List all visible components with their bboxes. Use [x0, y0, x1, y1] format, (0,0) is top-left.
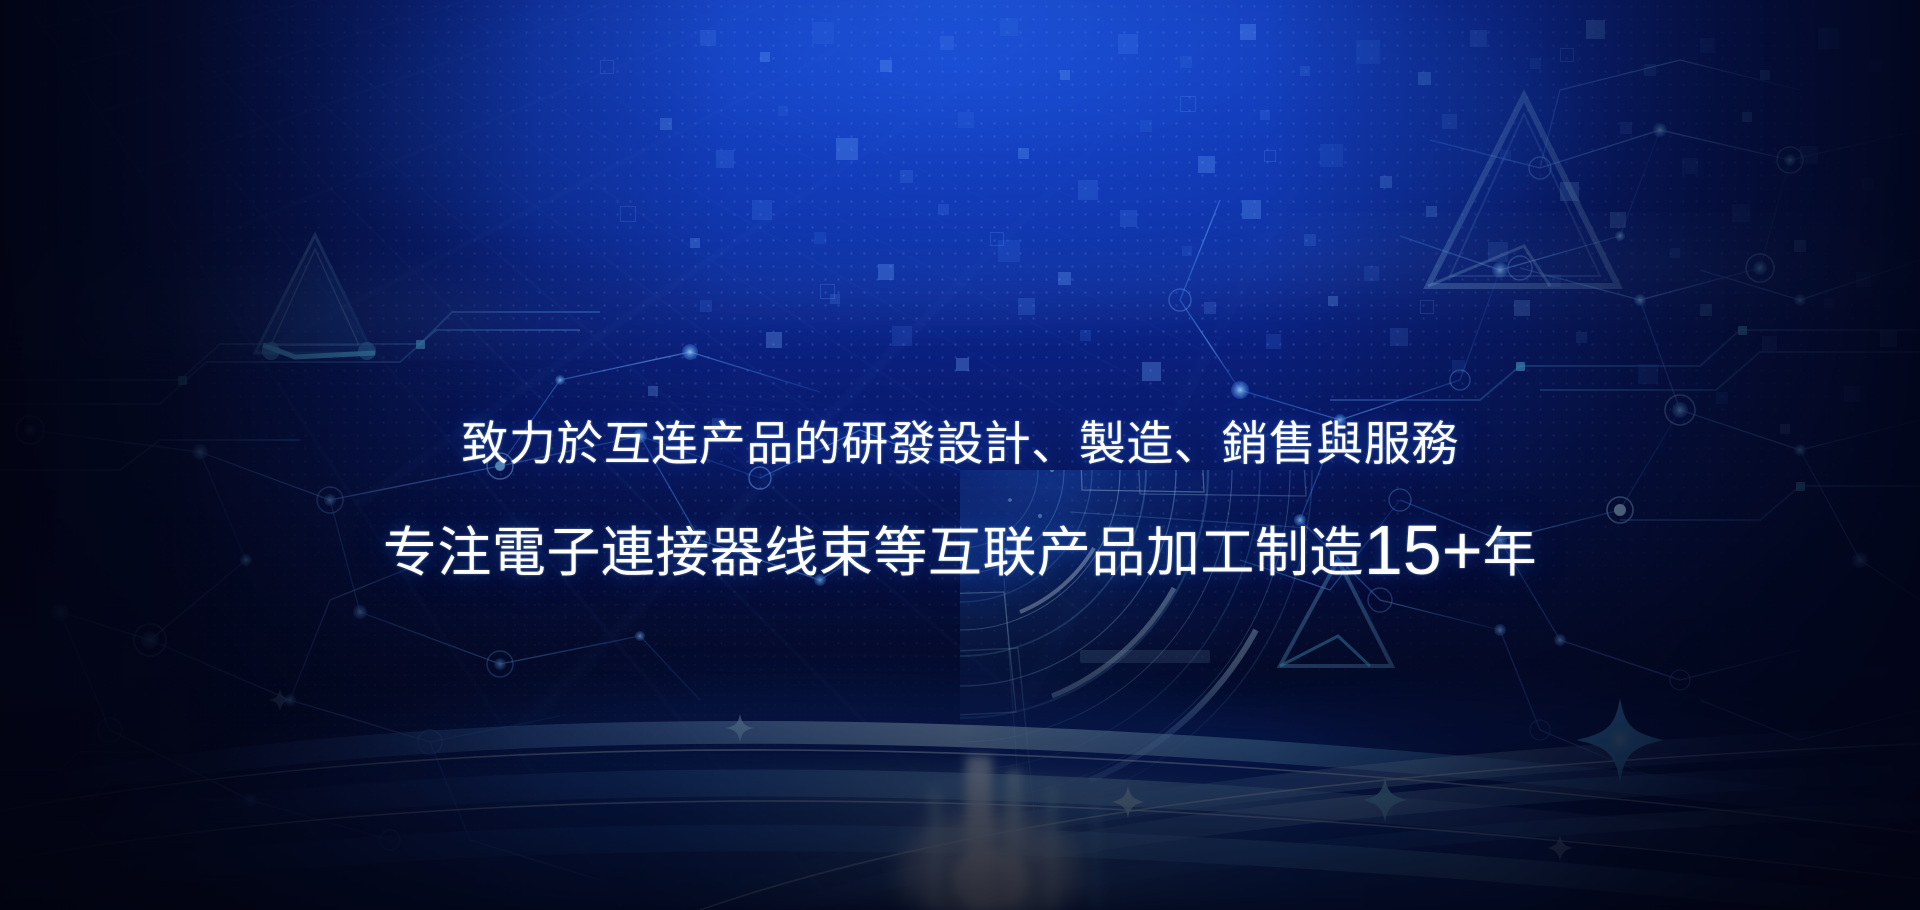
pixel-square: [620, 206, 636, 222]
pixel-square: [1732, 204, 1750, 222]
pixel-square: [1180, 96, 1196, 112]
pixel-square: [1320, 144, 1343, 167]
pixel-square: [830, 294, 840, 304]
pixel-square: [1364, 266, 1379, 281]
pixel-square: [1060, 70, 1070, 80]
pixel-square: [760, 52, 770, 62]
pixel-square: [1700, 304, 1712, 316]
pixel-square: [1198, 156, 1215, 173]
pixel-square: [1576, 332, 1587, 343]
pixel-square: [778, 106, 788, 116]
pixel-square: [1862, 178, 1874, 190]
pixel-square: [1844, 386, 1860, 402]
pixel-square: [1304, 234, 1316, 246]
pixel-square: [1716, 392, 1728, 404]
pixel-square: [1452, 360, 1465, 373]
pixel-square: [1586, 20, 1605, 39]
pixel-square: [938, 204, 949, 215]
pixel-square: [956, 358, 969, 371]
pixel-square: [1264, 150, 1276, 162]
perspective-grid-bottom-left: [0, 299, 870, 415]
pixel-square: [1204, 302, 1216, 314]
pixel-square: [1380, 176, 1392, 188]
pixel-square: [648, 386, 658, 396]
pixel-square: [1442, 114, 1457, 129]
pixel-square: [1078, 180, 1098, 200]
pixel-square: [752, 200, 772, 220]
pixel-square: [1420, 300, 1434, 314]
pixel-square: [1742, 112, 1752, 122]
pixel-square: [812, 22, 834, 44]
headline-line-1: 致力於互连产品的研發設計、製造、銷售與服務: [0, 420, 1920, 469]
pixel-square: [1180, 56, 1192, 68]
pixel-square: [1356, 40, 1380, 64]
pixel-square: [1760, 70, 1770, 80]
pixel-square: [1080, 330, 1091, 341]
pixel-square: [716, 150, 734, 168]
pixel-square: [1118, 34, 1138, 54]
pixel-square: [1514, 300, 1530, 316]
pixel-square: [1818, 28, 1839, 49]
pixel-square: [958, 112, 974, 128]
pixel-square: [900, 170, 913, 183]
headline-line-2: 专注電子連接器线束等互联产品加工制造15+年: [0, 512, 1920, 582]
pixel-square: [1856, 272, 1871, 287]
pixel-square: [1824, 298, 1834, 308]
pixel-square: [1548, 274, 1561, 287]
pixel-square: [940, 36, 954, 50]
pixel-square: [1700, 38, 1715, 53]
pixel-square: [1240, 24, 1256, 40]
pixel-square: [990, 232, 1004, 246]
pixel-square: [820, 284, 835, 299]
pixel-square: [1426, 206, 1437, 217]
pixel-square: [1140, 120, 1152, 132]
pixel-square: [1682, 158, 1698, 174]
pixel-square: [660, 118, 672, 130]
pixel-square: [1488, 242, 1508, 262]
pixel-square: [1266, 334, 1281, 349]
pixel-square: [814, 232, 826, 244]
pixel-square: [1762, 336, 1777, 351]
headline-years-number: 15+: [1364, 515, 1483, 585]
pixel-square: [880, 60, 892, 72]
pixel-square: [600, 60, 614, 74]
pixel-square: [1670, 248, 1680, 258]
pixel-square: [1620, 122, 1632, 134]
pixel-square: [1644, 64, 1656, 76]
pixel-square: [1242, 200, 1261, 219]
pixel-square: [1328, 296, 1338, 306]
pixel-square: [1470, 30, 1487, 47]
pixel-square: [1260, 110, 1270, 120]
pixel-square: [1000, 18, 1018, 36]
pixel-square: [878, 264, 894, 280]
pixel-square: [836, 138, 858, 160]
pixel-square: [1018, 148, 1029, 159]
pixel-square: [892, 326, 912, 346]
pixel-square: [1794, 240, 1806, 252]
pixel-square: [1500, 150, 1511, 161]
pixel-square: [766, 332, 782, 348]
pixel-square: [1182, 246, 1192, 256]
pixel-square: [998, 240, 1020, 262]
pixel-square: [700, 30, 716, 46]
pixel-square: [1800, 146, 1818, 164]
headline-block: 致力於互连产品的研發設計、製造、銷售與服務 专注電子連接器线束等互联产品加工制造…: [0, 420, 1920, 582]
pixel-square: [1530, 58, 1541, 69]
pixel-square: [1300, 66, 1310, 76]
pixel-square: [1870, 60, 1882, 72]
pixel-square: [1058, 272, 1071, 285]
headline-line-2-suffix: 年: [1483, 525, 1538, 581]
pixel-square: [1120, 210, 1137, 227]
pixel-square: [700, 300, 712, 312]
pixel-square: [1390, 328, 1408, 346]
pixel-square: [1610, 212, 1626, 228]
pixel-square: [1638, 364, 1658, 384]
headline-line-2-prefix: 专注電子連接器线束等互联产品加工制造: [383, 525, 1364, 581]
pixel-square: [1018, 298, 1035, 315]
pixel-square: [690, 238, 700, 248]
pixel-square: [1418, 72, 1431, 85]
banner-hero: 致力於互连产品的研發設計、製造、銷售與服務 专注電子連接器线束等互联产品加工制造…: [0, 0, 1920, 910]
pixel-square: [1880, 330, 1897, 347]
pixel-square: [1560, 48, 1574, 62]
pixel-square: [1560, 182, 1579, 201]
pixel-square: [1142, 362, 1161, 381]
